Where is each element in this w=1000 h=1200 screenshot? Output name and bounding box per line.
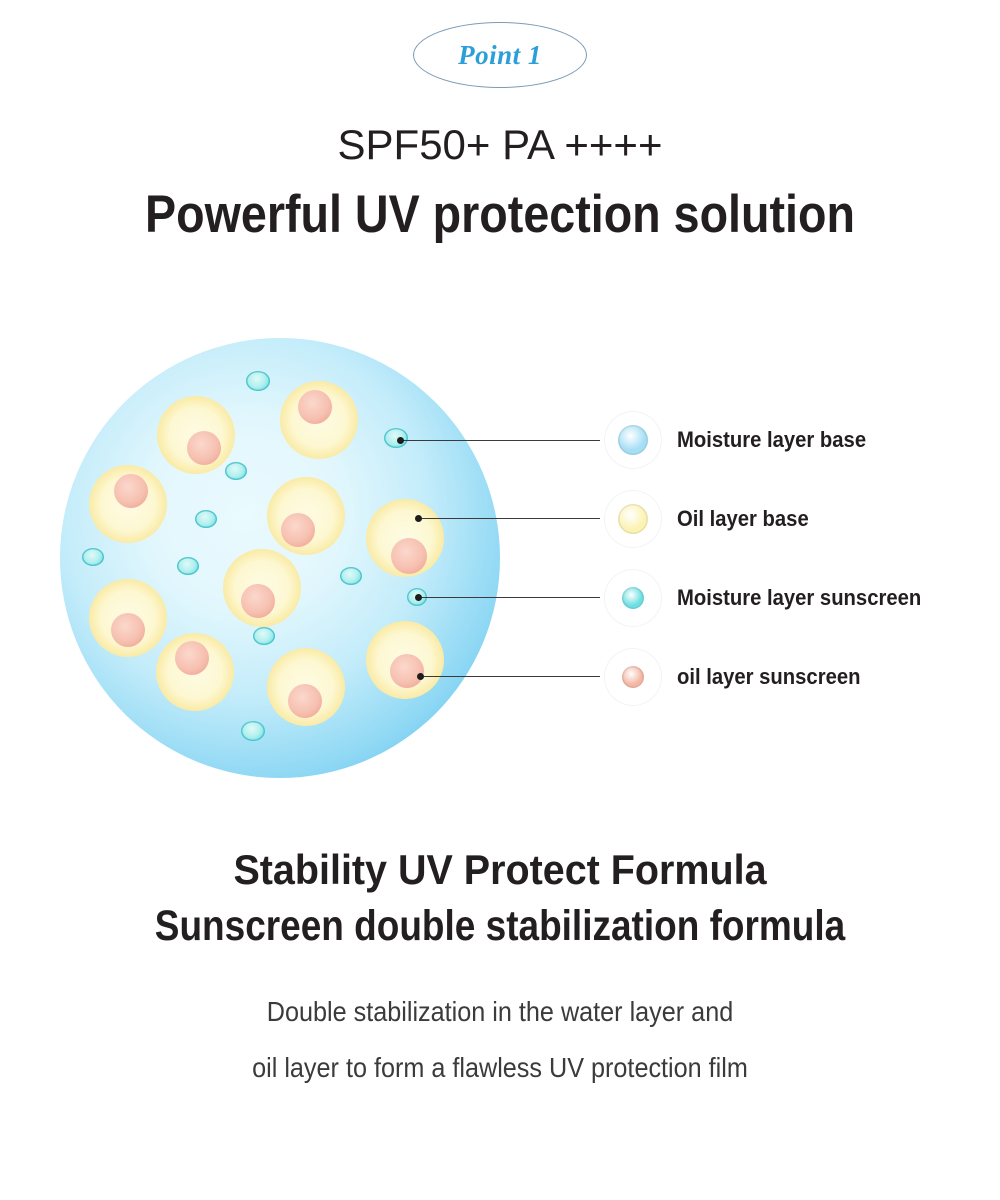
moisture-layer-sunscreen-particle — [253, 627, 275, 645]
footer-paragraph-line-1: Double stabilization in the water layer … — [50, 998, 950, 1026]
oil-layer-sunscreen-particle — [390, 654, 424, 688]
leader-line-dot — [415, 594, 422, 601]
point-badge-label: Point 1 — [458, 40, 542, 71]
moisture-layer-sunscreen-particle — [241, 721, 265, 741]
moisture-layer-sunscreen-particle — [82, 548, 104, 566]
moisture-layer-sunscreen-swatch — [605, 570, 661, 626]
oil-layer-sunscreen-particle — [111, 613, 145, 647]
legend-swatch-dot — [622, 666, 644, 688]
emulsion-diagram — [0, 320, 1000, 800]
moisture-layer-sunscreen-particle — [384, 428, 408, 448]
double-stabilization-heading: Sunscreen double stabilization formula — [70, 904, 930, 949]
oil-layer-sunscreen-particle — [114, 474, 148, 508]
moisture-layer-sunscreen-particle — [225, 462, 247, 480]
leader-line — [418, 597, 600, 598]
moisture-layer-sunscreen-particle — [195, 510, 217, 528]
legend-label: oil layer sunscreen — [677, 664, 860, 690]
oil-layer-sunscreen-particle — [241, 584, 275, 618]
legend-swatch-dot — [618, 425, 648, 455]
footer-paragraph-line-2: oil layer to form a flawless UV protecti… — [50, 1054, 950, 1082]
leader-line — [418, 518, 600, 519]
moisture-layer-sunscreen-particle — [340, 567, 362, 585]
legend-swatch-dot — [618, 504, 648, 534]
moisture-layer-sunscreen-particle — [177, 557, 199, 575]
leader-line — [400, 440, 600, 441]
legend-label: Oil layer base — [677, 506, 809, 532]
leader-line — [420, 676, 600, 677]
headline-title: Powerful UV protection solution — [60, 188, 940, 241]
legend-row: Moisture layer sunscreen — [605, 570, 948, 626]
legend-swatch-dot — [622, 587, 644, 609]
legend-label: Moisture layer sunscreen — [677, 585, 921, 611]
footer-headings: Stability UV Protect Formula Sunscreen d… — [0, 848, 1000, 949]
point-badge: Point 1 — [413, 22, 587, 88]
legend-row: Moisture layer base — [605, 412, 887, 468]
moisture-layer-sunscreen-particle — [246, 371, 270, 391]
oil-layer-sunscreen-particle — [298, 390, 332, 424]
oil-layer-sunscreen-particle — [175, 641, 209, 675]
oil-layer-sunscreen-swatch — [605, 649, 661, 705]
oil-layer-sunscreen-particle — [288, 684, 322, 718]
footer-paragraph: Double stabilization in the water layer … — [0, 998, 1000, 1082]
oil-layer-sunscreen-particle — [281, 513, 315, 547]
leader-line-dot — [415, 515, 422, 522]
oil-layer-sunscreen-particle — [187, 431, 221, 465]
leader-line-dot — [417, 673, 424, 680]
legend-label: Moisture layer base — [677, 427, 866, 453]
moisture-layer-base-swatch — [605, 412, 661, 468]
spf-rating-text: SPF50+ PA ++++ — [0, 124, 1000, 166]
oil-layer-sunscreen-particle — [391, 538, 427, 574]
stability-formula-heading: Stability UV Protect Formula — [30, 848, 970, 892]
legend-row: Oil layer base — [605, 491, 823, 547]
oil-layer-base-swatch — [605, 491, 661, 547]
leader-line-dot — [397, 437, 404, 444]
headline-block: SPF50+ PA ++++ Powerful UV protection so… — [0, 124, 1000, 241]
legend-row: oil layer sunscreen — [605, 649, 881, 705]
